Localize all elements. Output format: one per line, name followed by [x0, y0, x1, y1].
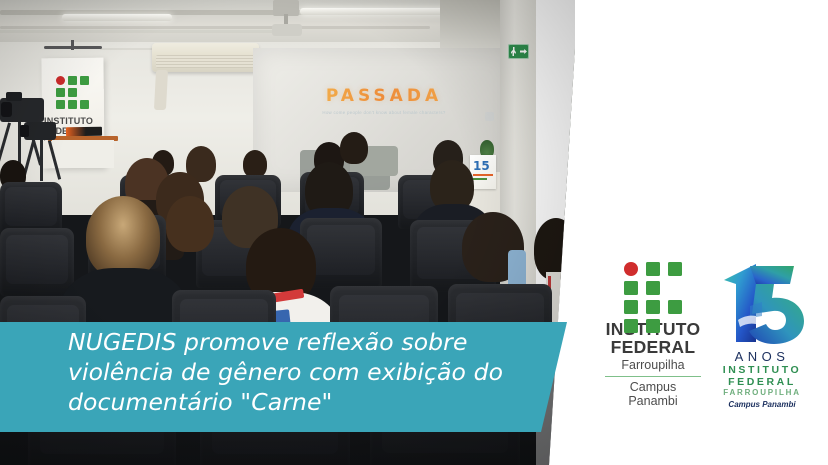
instituto-federal-logo: INSTITUTO FEDERAL Farroupilha Campus Pan…: [592, 262, 714, 422]
logo-strip: INSTITUTO FEDERAL Farroupilha Campus Pan…: [575, 0, 828, 465]
if-divider: [605, 376, 701, 377]
anos-label: ANOS: [703, 349, 821, 364]
anos-if-line1: INSTITUTO: [703, 364, 821, 376]
if-campus-line2: Panambi: [592, 394, 714, 408]
anniversary-15-numeral-icon: [716, 258, 808, 346]
if-name-line3: Farroupilha: [592, 358, 714, 372]
anos-if-line2: FEDERAL: [703, 376, 821, 388]
article-title: NUGEDIS promove reflexão sobre violência…: [68, 327, 538, 417]
anniversary-15-anos-logo: ANOS INSTITUTO FEDERAL FARROUPILHA Campu…: [703, 258, 821, 423]
anos-if-line3: FARROUPILHA: [703, 388, 821, 398]
article-title-line3: documentário "Carne": [68, 387, 538, 417]
anos-campus-label: Campus Panambi: [703, 399, 821, 410]
if-campus-line1: Campus: [592, 380, 714, 394]
article-title-line2: violência de gênero com exibição do: [68, 357, 538, 387]
if-grid-icon: [624, 262, 682, 314]
if-name-line2: FEDERAL: [592, 338, 714, 356]
news-card: PASSADA How come people don't know about…: [0, 0, 828, 465]
article-title-line1: NUGEDIS promove reflexão sobre: [68, 327, 538, 357]
anniversary-15-svg: [716, 258, 808, 346]
